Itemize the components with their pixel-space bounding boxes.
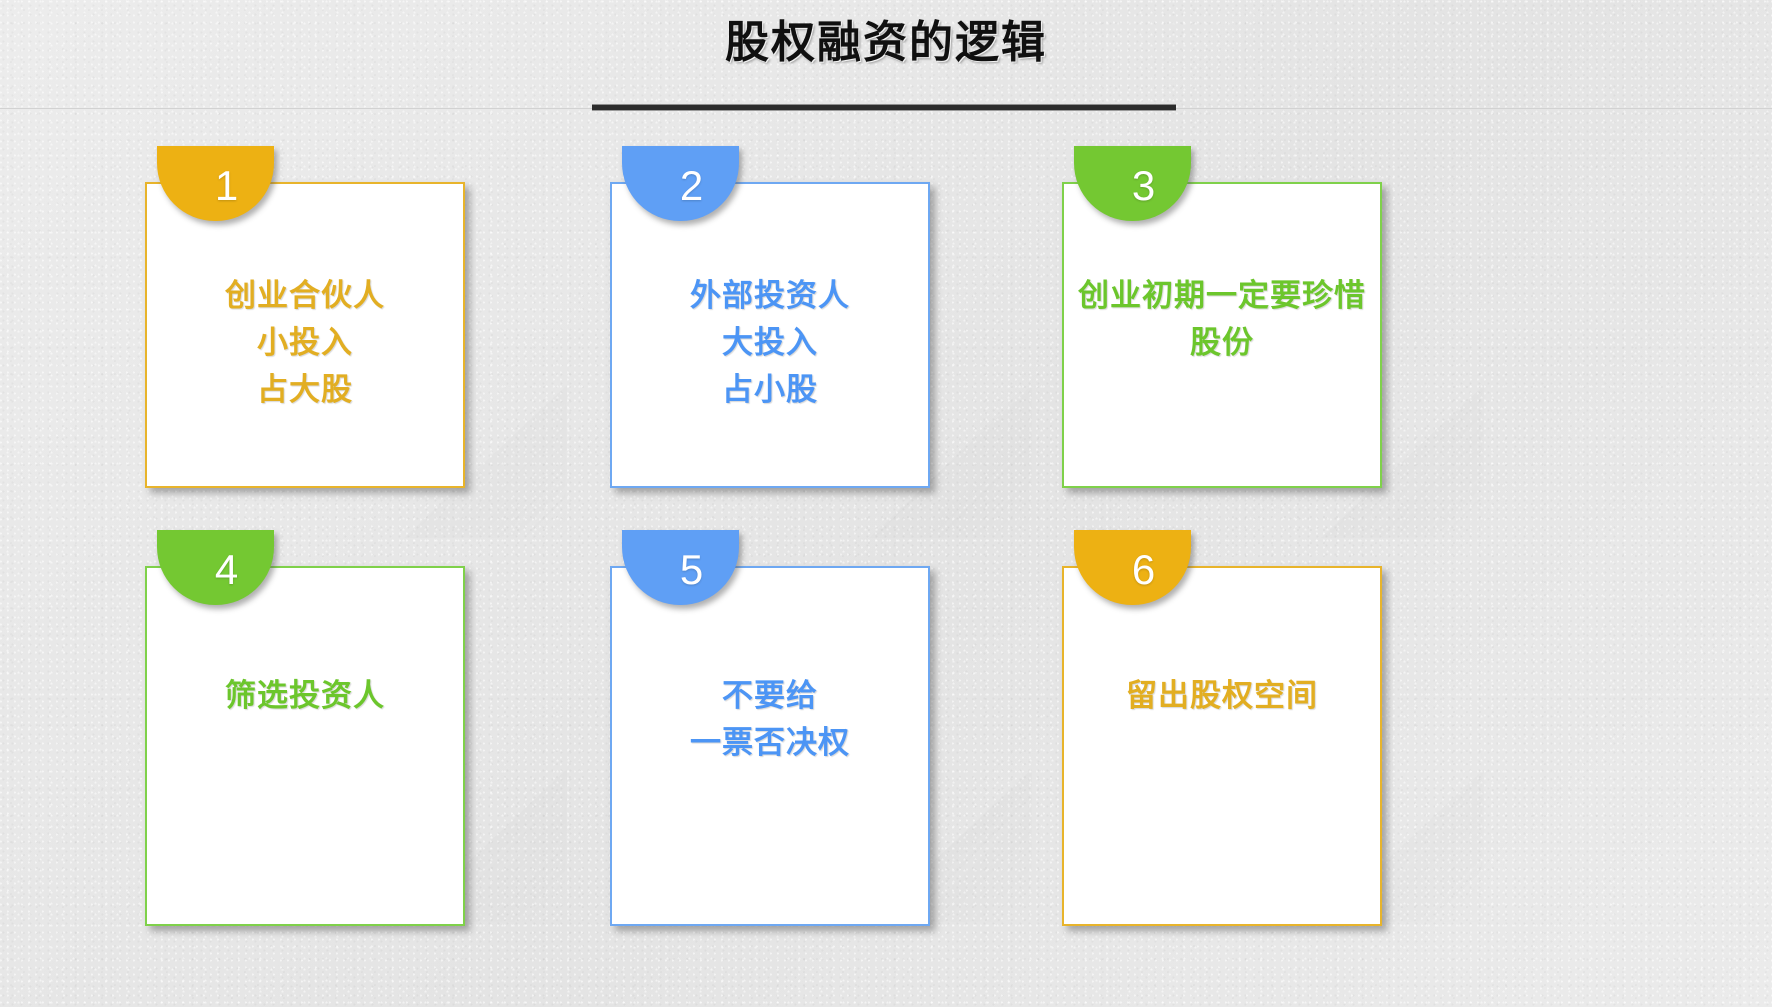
card-text-line: 占小股 (622, 366, 918, 413)
card-text: 不要给 一票否决权 (622, 672, 918, 766)
card-5[interactable]: 不要给 一票否决权 5 (610, 530, 972, 925)
card-text-line: 占大股 (157, 366, 453, 413)
card-text-line: 创业合伙人 (157, 272, 453, 319)
card-text-line: 创业初期一定要珍惜股份 (1074, 272, 1370, 366)
card-text-line: 外部投资人 (622, 272, 918, 319)
card-text-line: 一票否决权 (622, 719, 918, 766)
card-1[interactable]: 创业合伙人 小投入 占大股 1 (145, 146, 507, 488)
card-body[interactable]: 筛选投资人 (145, 566, 465, 926)
card-body[interactable]: 外部投资人 大投入 占小股 (610, 182, 930, 488)
card-3[interactable]: 创业初期一定要珍惜股份 3 (1062, 146, 1424, 488)
card-text: 留出股权空间 (1074, 672, 1370, 719)
card-text: 外部投资人 大投入 占小股 (622, 272, 918, 413)
card-text-line: 小投入 (157, 319, 453, 366)
card-text-line: 不要给 (622, 672, 918, 719)
card-text: 创业初期一定要珍惜股份 (1074, 272, 1370, 366)
card-text: 创业合伙人 小投入 占大股 (157, 272, 453, 413)
card-text-line: 筛选投资人 (157, 672, 453, 719)
card-body[interactable]: 不要给 一票否决权 (610, 566, 930, 926)
card-grid: 创业合伙人 小投入 占大股 1 外部投资人 大投入 占小股 2 创业初期一定要珍… (0, 0, 1772, 1007)
card-4[interactable]: 筛选投资人 4 (145, 530, 507, 925)
card-body[interactable]: 创业合伙人 小投入 占大股 (145, 182, 465, 488)
card-2[interactable]: 外部投资人 大投入 占小股 2 (610, 146, 972, 488)
card-text: 筛选投资人 (157, 672, 453, 719)
card-text-line: 大投入 (622, 319, 918, 366)
card-text-line: 留出股权空间 (1074, 672, 1370, 719)
card-body[interactable]: 创业初期一定要珍惜股份 (1062, 182, 1382, 488)
card-6[interactable]: 留出股权空间 6 (1062, 530, 1424, 925)
card-body[interactable]: 留出股权空间 (1062, 566, 1382, 926)
